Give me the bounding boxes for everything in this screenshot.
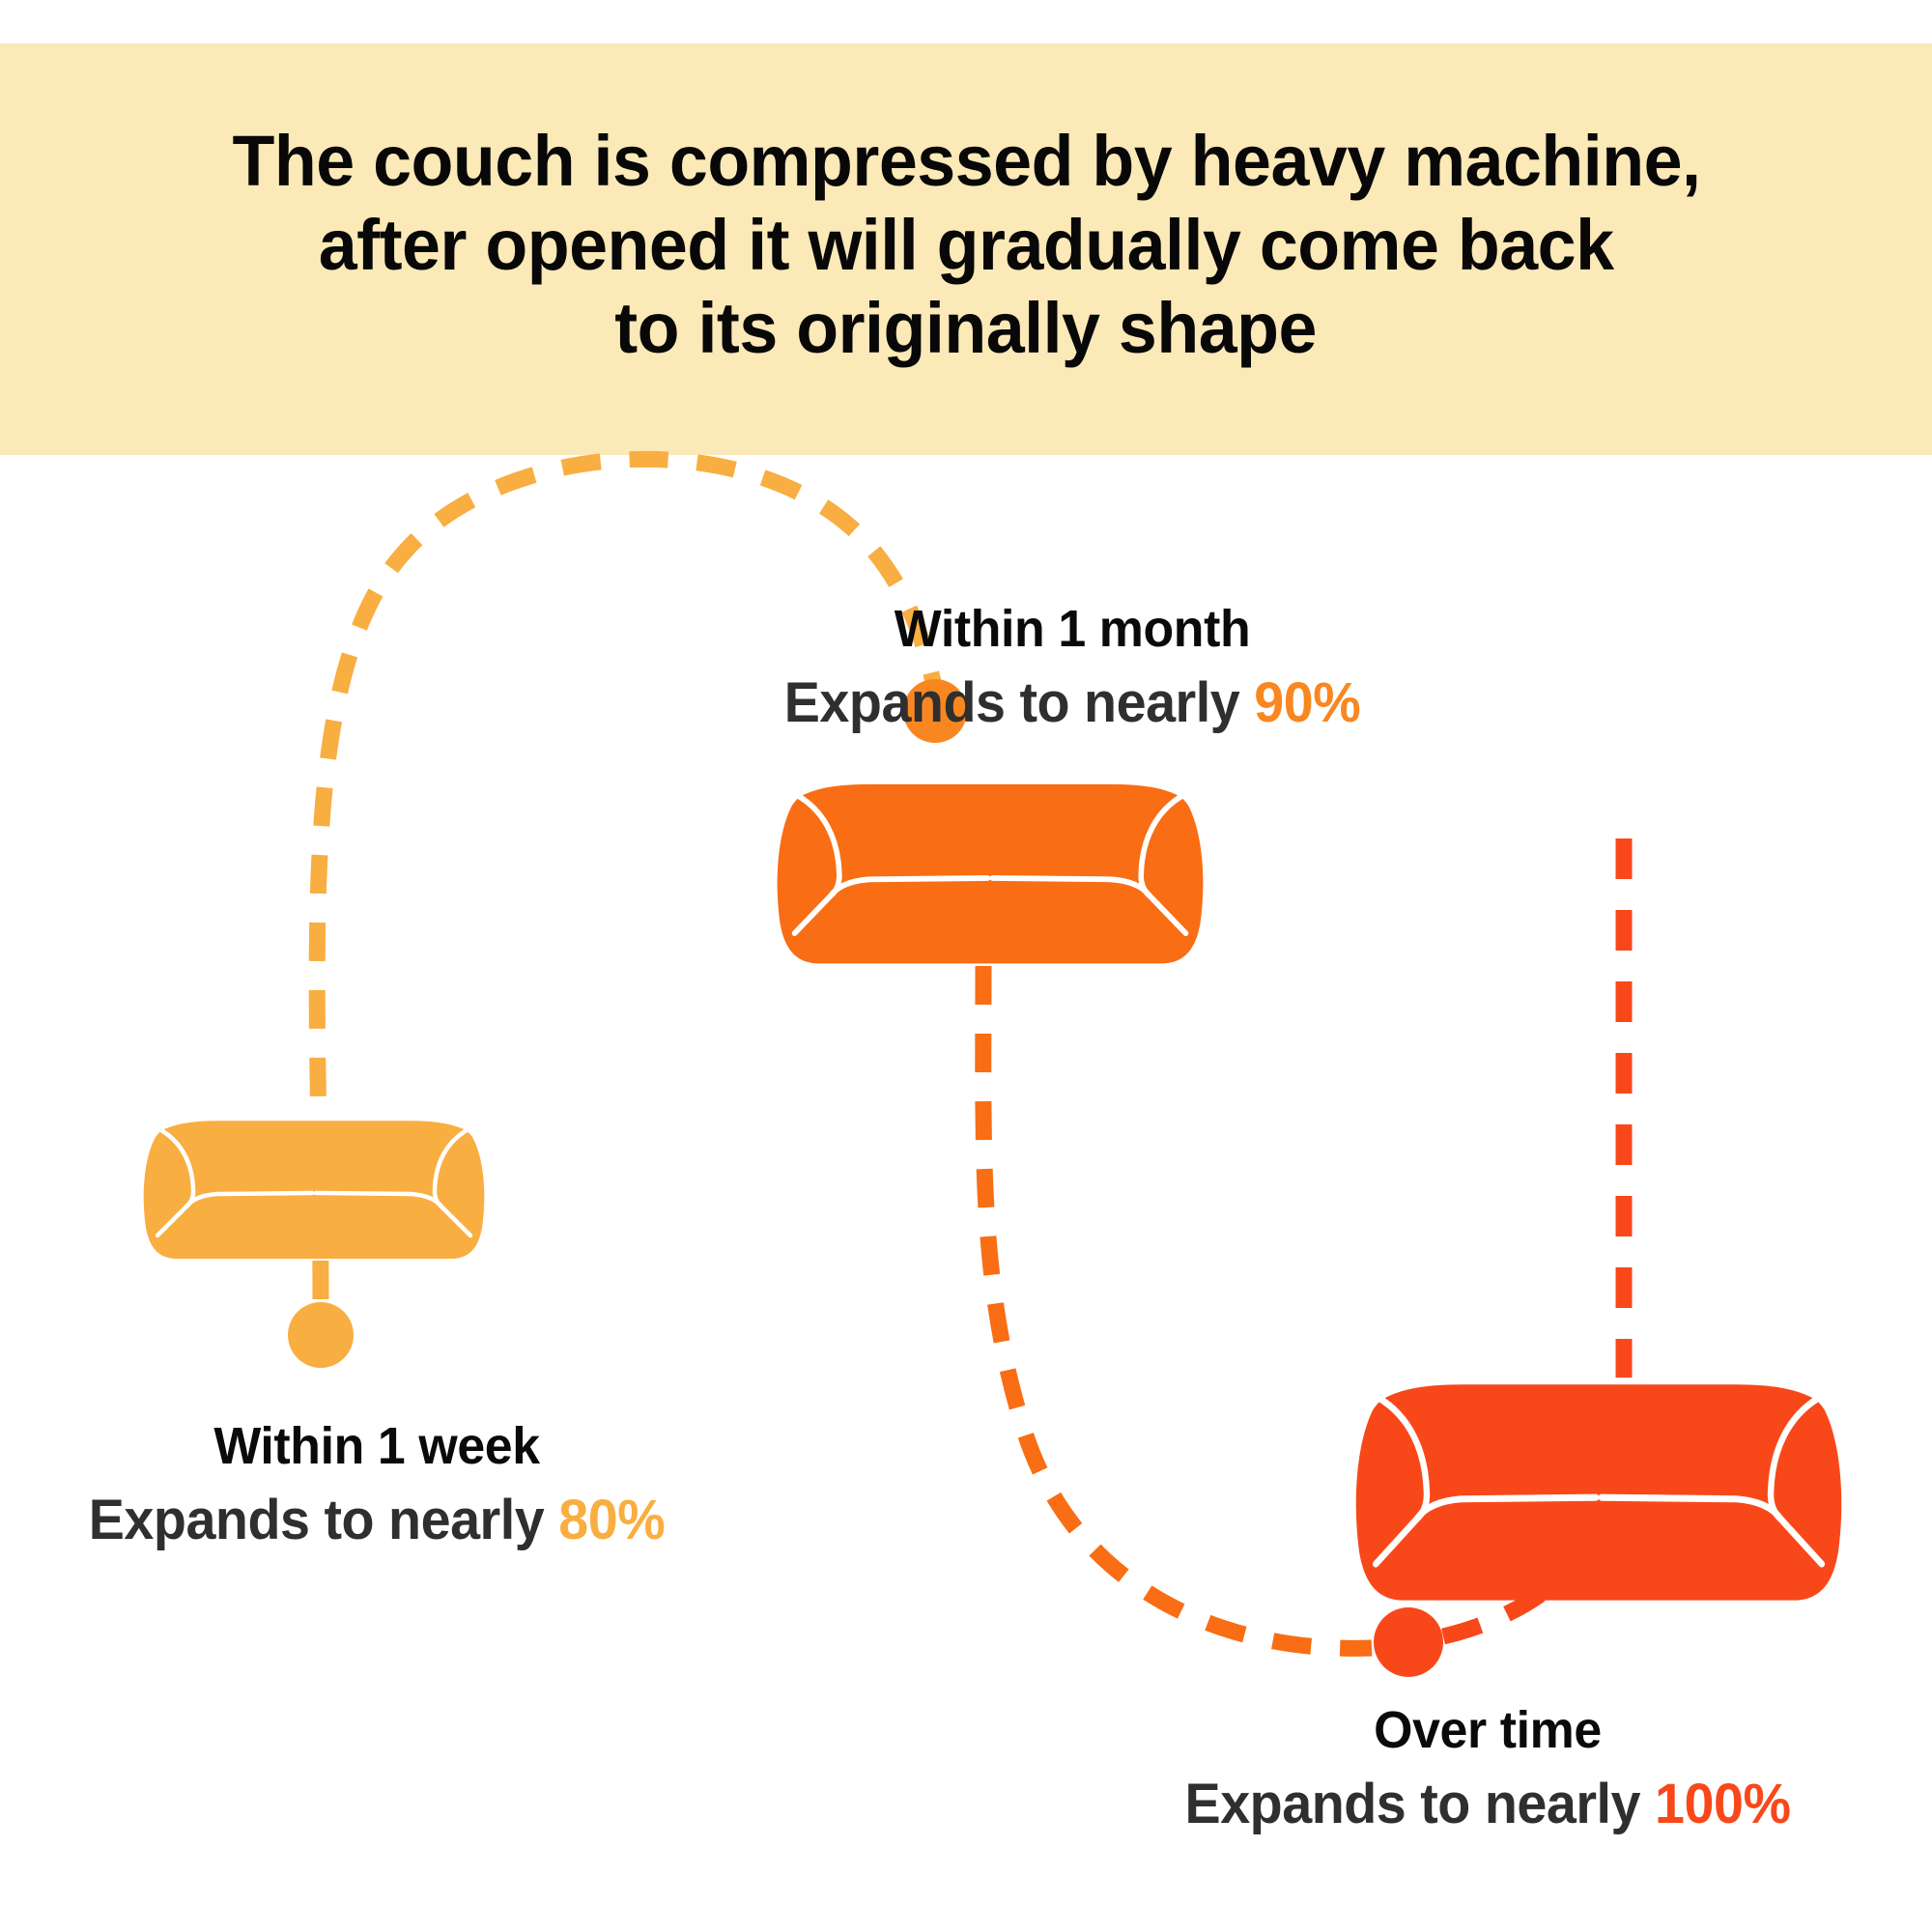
- caption-week-title: Within 1 week: [89, 1416, 665, 1476]
- caption-month-sub-prefix: Expands to nearly: [784, 671, 1254, 734]
- caption-week-sub-prefix: Expands to nearly: [89, 1489, 558, 1551]
- caption-week-percent: 80%: [558, 1489, 665, 1551]
- stage-dot-icon-overtime: [1374, 1607, 1443, 1677]
- infographic-canvas: The couch is compressed by heavy machine…: [0, 0, 1932, 1932]
- caption-month-sub: Expands to nearly 90%: [784, 670, 1360, 735]
- caption-overtime-sub: Expands to nearly 100%: [1185, 1772, 1791, 1836]
- caption-overtime-sub-prefix: Expands to nearly: [1185, 1773, 1655, 1835]
- caption-overtime-percent: 100%: [1655, 1773, 1790, 1835]
- caption-overtime-title: Over time: [1185, 1700, 1791, 1760]
- caption-month-percent: 90%: [1254, 671, 1360, 734]
- caption-month-title: Within 1 month: [784, 599, 1360, 659]
- couch-icon-overtime: [1356, 1381, 1841, 1601]
- couch-icon-month: [778, 781, 1204, 963]
- caption-overtime: Over time Expands to nearly 100%: [1172, 1700, 1803, 1836]
- caption-month: Within 1 month Expands to nearly 90%: [772, 599, 1372, 735]
- dashed-arc-month-to-overtime: [983, 966, 1372, 1648]
- caption-week-sub: Expands to nearly 80%: [89, 1488, 665, 1552]
- stage-dot-icon-week: [288, 1302, 354, 1368]
- couch-icon-week: [144, 1119, 485, 1259]
- diagram-layer: [0, 0, 1932, 1932]
- caption-week: Within 1 week Expands to nearly 80%: [76, 1416, 676, 1552]
